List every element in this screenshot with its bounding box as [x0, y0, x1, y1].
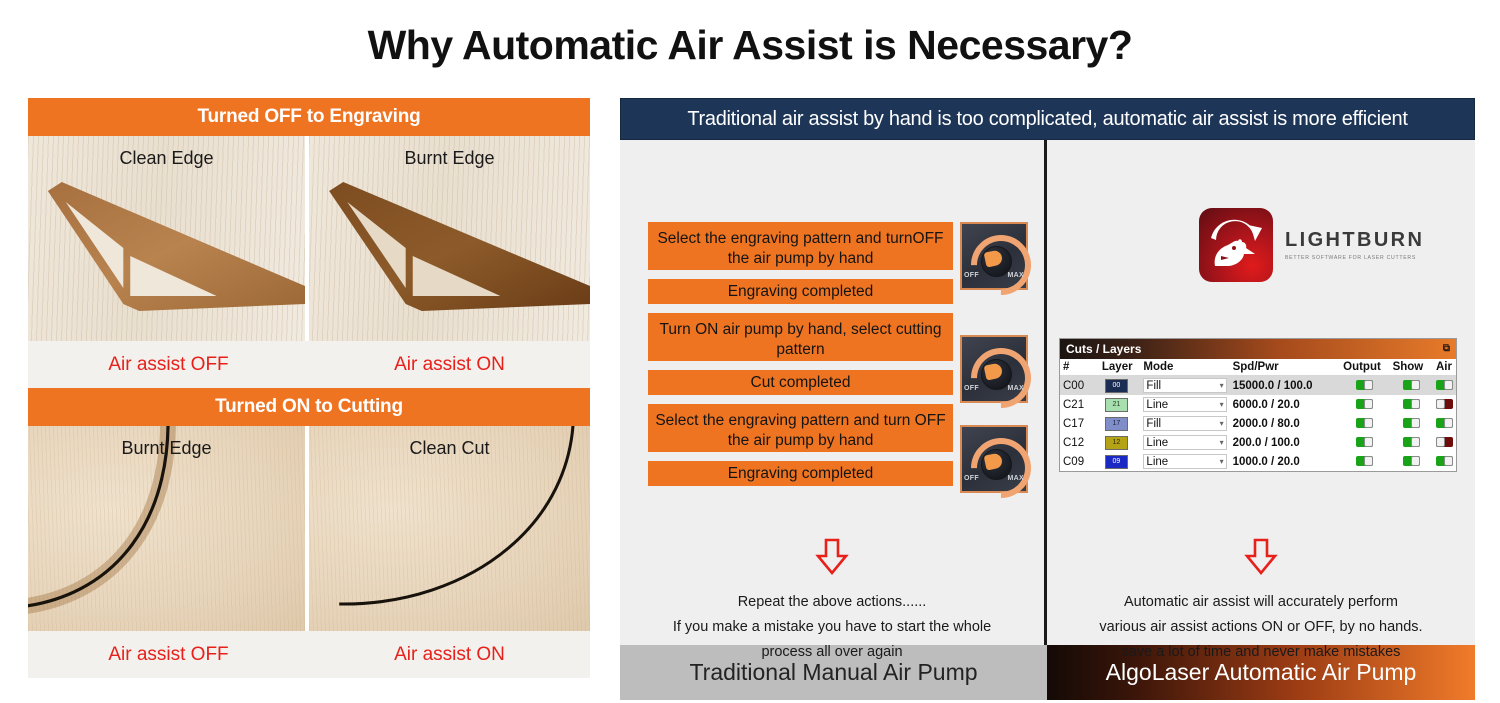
chevron-down-icon[interactable]: ▾	[1220, 457, 1224, 466]
manual-note-line-1: Repeat the above actions......	[620, 590, 1044, 615]
manual-column: Select the engraving pattern and turnOFF…	[620, 140, 1047, 645]
photo-clean-edge: Clean Edge	[28, 136, 309, 341]
step-4: Cut completed	[648, 370, 953, 395]
cell-output[interactable]	[1340, 376, 1389, 396]
col-header-show: Show	[1390, 359, 1433, 376]
lightburn-tagline: BETTER SOFTWARE FOR LASER CUTTERS	[1285, 255, 1424, 261]
float-window-icon[interactable]: ⧉	[1443, 339, 1450, 359]
step-5: Select the engraving pattern and turn OF…	[648, 404, 953, 452]
chevron-down-icon[interactable]: ▾	[1220, 400, 1224, 409]
output-toggle[interactable]	[1356, 399, 1373, 409]
output-toggle[interactable]	[1356, 456, 1373, 466]
layer-color-swatch[interactable]: 12	[1105, 436, 1128, 450]
air-toggle[interactable]	[1436, 380, 1453, 390]
cell-layer[interactable]: 09	[1099, 452, 1141, 471]
manual-note: Repeat the above actions...... If you ma…	[620, 590, 1044, 665]
cuts-layers-title: Cuts / Layers	[1066, 339, 1141, 359]
cell-spd-pwr: 200.0 / 100.0	[1230, 433, 1341, 452]
air-toggle[interactable]	[1436, 418, 1453, 428]
cell-spd-pwr: 15000.0 / 100.0	[1230, 376, 1341, 396]
col-header-air: Air	[1433, 359, 1456, 376]
cell-layer[interactable]: 00	[1099, 376, 1141, 396]
toggle-knob	[1364, 418, 1373, 428]
knob-off-label: OFF	[964, 385, 979, 392]
auto-note-line-2: various air assist actions ON or OFF, by…	[1047, 615, 1475, 640]
mode-select: Fill▾	[1143, 378, 1226, 393]
cell-index: C00	[1060, 376, 1099, 396]
toggle-knob	[1444, 380, 1453, 390]
mode-value: Fill	[1146, 380, 1161, 392]
table-row[interactable]: C1212Line▾200.0 / 100.0	[1060, 433, 1456, 452]
lightburn-wordmark: LIGHTBURN BETTER SOFTWARE FOR LASER CUTT…	[1285, 229, 1424, 261]
cell-air[interactable]	[1433, 414, 1456, 433]
mode-value: Line	[1146, 399, 1168, 411]
chevron-down-icon[interactable]: ▾	[1220, 381, 1224, 390]
cell-index: C17	[1060, 414, 1099, 433]
show-toggle[interactable]	[1403, 399, 1420, 409]
knob-max-label: MAX	[1008, 475, 1024, 482]
cell-air[interactable]	[1433, 433, 1456, 452]
col-header-output: Output	[1340, 359, 1389, 376]
chevron-down-icon[interactable]: ▾	[1220, 438, 1224, 447]
mode-select: Line▾	[1143, 397, 1226, 412]
photo-clean-cut: Clean Cut	[309, 426, 590, 631]
col-header-spdpwr: Spd/Pwr	[1230, 359, 1341, 376]
step-6: Engraving completed	[648, 461, 953, 486]
step-1: Select the engraving pattern and turnOFF…	[648, 222, 953, 270]
table-header-row: # Layer Mode Spd/Pwr Output Show Air	[1060, 359, 1456, 376]
cell-mode[interactable]: Line▾	[1140, 395, 1229, 414]
cuts-layers-titlebar: Cuts / Layers ⧉	[1060, 339, 1456, 359]
toggle-knob	[1364, 456, 1373, 466]
cell-output[interactable]	[1340, 433, 1389, 452]
show-toggle[interactable]	[1403, 456, 1420, 466]
mode-select: Line▾	[1143, 435, 1226, 450]
chevron-down-icon[interactable]: ▾	[1220, 419, 1224, 428]
section-header-engraving: Turned OFF to Engraving	[28, 98, 590, 136]
toggle-knob	[1444, 418, 1453, 428]
page-title: Why Automatic Air Assist is Necessary?	[0, 22, 1500, 69]
table-row[interactable]: C1717Fill▾2000.0 / 80.0	[1060, 414, 1456, 433]
cell-spd-pwr: 2000.0 / 80.0	[1230, 414, 1341, 433]
auto-column: LIGHTBURN BETTER SOFTWARE FOR LASER CUTT…	[1047, 140, 1475, 645]
lightburn-name: LIGHTBURN	[1285, 229, 1424, 252]
layer-color-swatch[interactable]: 00	[1105, 379, 1128, 393]
caption-burnt-cut: Burnt Edge	[28, 438, 305, 459]
cell-spd-pwr: 1000.0 / 20.0	[1230, 452, 1341, 471]
table-row[interactable]: C0909Line▾1000.0 / 20.0	[1060, 452, 1456, 471]
cell-mode[interactable]: Fill▾	[1140, 376, 1229, 396]
cell-show[interactable]	[1390, 376, 1433, 396]
air-label-row-engraving: Air assist OFF Air assist ON	[28, 341, 590, 388]
output-toggle[interactable]	[1356, 418, 1373, 428]
cell-show[interactable]	[1390, 433, 1433, 452]
cell-show[interactable]	[1390, 395, 1433, 414]
step-2: Engraving completed	[648, 279, 953, 304]
air-assist-on-label: Air assist ON	[309, 341, 590, 388]
air-label-row-cutting: Air assist OFF Air assist ON	[28, 631, 590, 678]
cell-air[interactable]	[1433, 376, 1456, 396]
toggle-knob	[1411, 456, 1420, 466]
cell-air[interactable]	[1433, 452, 1456, 471]
workflow-body: Select the engraving pattern and turnOFF…	[620, 140, 1475, 645]
mode-select: Fill▾	[1143, 416, 1226, 431]
knob-off-label: OFF	[964, 475, 979, 482]
knob-max-label: MAX	[1008, 385, 1024, 392]
mode-value: Line	[1146, 437, 1168, 449]
toggle-knob	[1411, 437, 1420, 447]
air-pump-knob-2[interactable]: OFF MAX	[960, 335, 1028, 403]
caption-clean-cut: Clean Cut	[309, 438, 590, 459]
toggle-knob	[1411, 380, 1420, 390]
cell-layer[interactable]: 17	[1099, 414, 1141, 433]
photo-row-cutting: Burnt Edge Clean Cut	[28, 426, 590, 631]
show-toggle[interactable]	[1403, 380, 1420, 390]
cell-show[interactable]	[1390, 414, 1433, 433]
cell-mode[interactable]: Fill▾	[1140, 414, 1229, 433]
photo-burnt-cut: Burnt Edge	[28, 426, 309, 631]
col-header-layer: Layer	[1099, 359, 1141, 376]
layer-color-swatch[interactable]: 09	[1105, 455, 1128, 469]
comparison-panel: Turned OFF to Engraving Clean Edge	[28, 98, 590, 700]
cell-show[interactable]	[1390, 452, 1433, 471]
air-pump-knob-3[interactable]: OFF MAX	[960, 425, 1028, 493]
cell-mode[interactable]: Line▾	[1140, 433, 1229, 452]
toggle-knob	[1411, 399, 1420, 409]
air-assist-off-label: Air assist OFF	[28, 631, 309, 678]
lightburn-dragon-icon	[1199, 208, 1273, 282]
col-header-mode: Mode	[1140, 359, 1229, 376]
air-assist-off-label: Air assist OFF	[28, 341, 309, 388]
cell-mode[interactable]: Line▾	[1140, 452, 1229, 471]
auto-note-line-1: Automatic air assist will accurately per…	[1047, 590, 1475, 615]
cell-index: C21	[1060, 395, 1099, 414]
manual-note-line-3: process all over again	[620, 640, 1044, 665]
cell-layer[interactable]: 12	[1099, 433, 1141, 452]
air-toggle[interactable]	[1436, 437, 1453, 447]
cuts-layers-panel[interactable]: Cuts / Layers ⧉ # Layer Mode Spd/Pwr Out…	[1059, 338, 1457, 472]
layer-color-swatch[interactable]: 17	[1105, 417, 1128, 431]
mode-value: Line	[1146, 456, 1168, 468]
mode-value: Fill	[1146, 418, 1161, 430]
show-toggle[interactable]	[1403, 418, 1420, 428]
cell-index: C09	[1060, 452, 1099, 471]
cell-output[interactable]	[1340, 395, 1389, 414]
cell-output[interactable]	[1340, 452, 1389, 471]
toggle-knob	[1444, 456, 1453, 466]
knob-off-label: OFF	[964, 272, 979, 279]
auto-note: Automatic air assist will accurately per…	[1047, 590, 1475, 665]
air-toggle[interactable]	[1436, 399, 1453, 409]
auto-note-line-3: save a lot of time and never make mistak…	[1047, 640, 1475, 665]
toggle-knob	[1436, 399, 1445, 409]
col-header-index: #	[1060, 359, 1099, 376]
mode-select: Line▾	[1143, 454, 1226, 469]
photo-row-engraving: Clean Edge Burnt Edge	[28, 136, 590, 341]
cell-air[interactable]	[1433, 395, 1456, 414]
caption-burnt-edge: Burnt Edge	[309, 148, 590, 169]
down-arrow-icon-auto	[1047, 538, 1475, 576]
cell-spd-pwr: 6000.0 / 20.0	[1230, 395, 1341, 414]
photo-burnt-edge: Burnt Edge	[309, 136, 590, 341]
air-toggle[interactable]	[1436, 456, 1453, 466]
toggle-knob	[1364, 437, 1373, 447]
toggle-knob	[1364, 399, 1373, 409]
workflow-banner: Traditional air assist by hand is too co…	[620, 98, 1475, 140]
down-arrow-icon-manual	[620, 538, 1044, 576]
manual-note-line-2: If you make a mistake you have to start …	[620, 615, 1044, 640]
cell-layer[interactable]: 21	[1099, 395, 1141, 414]
workflow-panel: Traditional air assist by hand is too co…	[620, 98, 1475, 700]
cuts-layers-table: # Layer Mode Spd/Pwr Output Show Air C00…	[1060, 359, 1456, 471]
output-toggle[interactable]	[1356, 437, 1373, 447]
output-toggle[interactable]	[1356, 380, 1373, 390]
lightburn-logo: LIGHTBURN BETTER SOFTWARE FOR LASER CUTT…	[1199, 208, 1424, 282]
toggle-knob	[1436, 437, 1445, 447]
step-3: Turn ON air pump by hand, select cutting…	[648, 313, 953, 361]
show-toggle[interactable]	[1403, 437, 1420, 447]
cell-output[interactable]	[1340, 414, 1389, 433]
table-row[interactable]: C0000Fill▾15000.0 / 100.0	[1060, 376, 1456, 396]
caption-clean-edge: Clean Edge	[28, 148, 305, 169]
air-pump-knob-1[interactable]: OFF MAX	[960, 222, 1028, 290]
cuts-layers-body: C0000Fill▾15000.0 / 100.0C2121Line▾6000.…	[1060, 376, 1456, 472]
layer-color-swatch[interactable]: 21	[1105, 398, 1128, 412]
cell-index: C12	[1060, 433, 1099, 452]
section-header-cutting: Turned ON to Cutting	[28, 388, 590, 426]
table-row[interactable]: C2121Line▾6000.0 / 20.0	[1060, 395, 1456, 414]
manual-step-list: Select the engraving pattern and turnOFF…	[648, 222, 953, 495]
air-assist-on-label: Air assist ON	[309, 631, 590, 678]
knob-max-label: MAX	[1008, 272, 1024, 279]
toggle-knob	[1411, 418, 1420, 428]
toggle-knob	[1364, 380, 1373, 390]
